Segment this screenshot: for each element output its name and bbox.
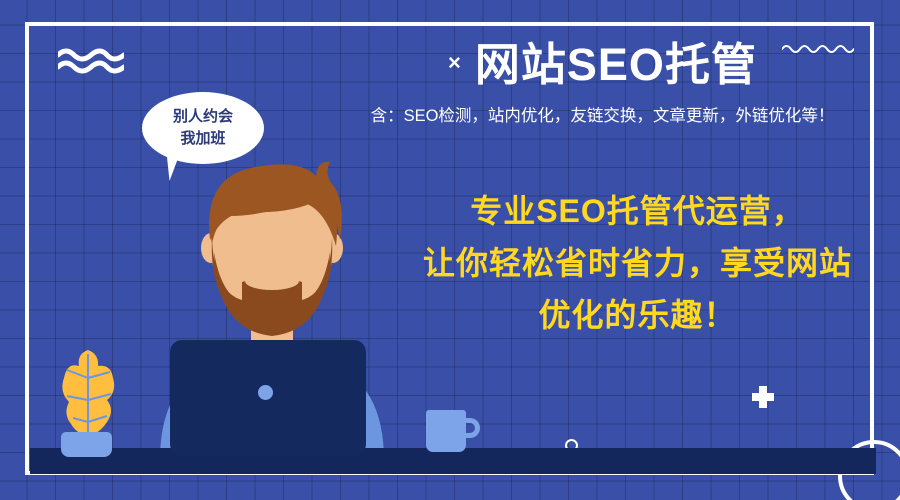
desk-illustration [30,452,876,474]
page-title: 网站SEO托管 [475,40,757,90]
bullet-x-icon: × [448,52,461,78]
slogan-line-1: 专业SEO托管代运营， [395,186,880,238]
title-row: × 网站SEO托管 [330,40,875,90]
plant-pot [61,432,112,457]
seo-hosting-banner: 别人约会 我加班 × 网站SEO托管 含：SEO检测，站内优化，友链交换，文章更… [0,0,900,500]
laptop-logo-icon [258,385,273,400]
speech-bubble-line-1: 别人约会 [173,106,233,128]
slogan-line-2: 让你轻松省时省力，享受网站 [395,238,880,290]
slogan-block: 专业SEO托管代运营， 让你轻松省时省力，享受网站 优化的乐趣！ [395,186,880,341]
headline-block: × 网站SEO托管 含：SEO检测，站内优化，友链交换，文章更新，外链优化等！ [330,40,875,126]
speech-bubble-line-2: 我加班 [180,128,225,150]
slogan-line-3: 优化的乐趣！ [395,290,880,342]
coffee-mug-illustration [426,410,466,452]
speech-bubble: 别人约会 我加班 [142,92,264,164]
potted-plant-illustration [55,348,121,440]
page-subtitle: 含：SEO检测，站内优化，友链交换，文章更新，外链优化等！ [330,102,875,126]
